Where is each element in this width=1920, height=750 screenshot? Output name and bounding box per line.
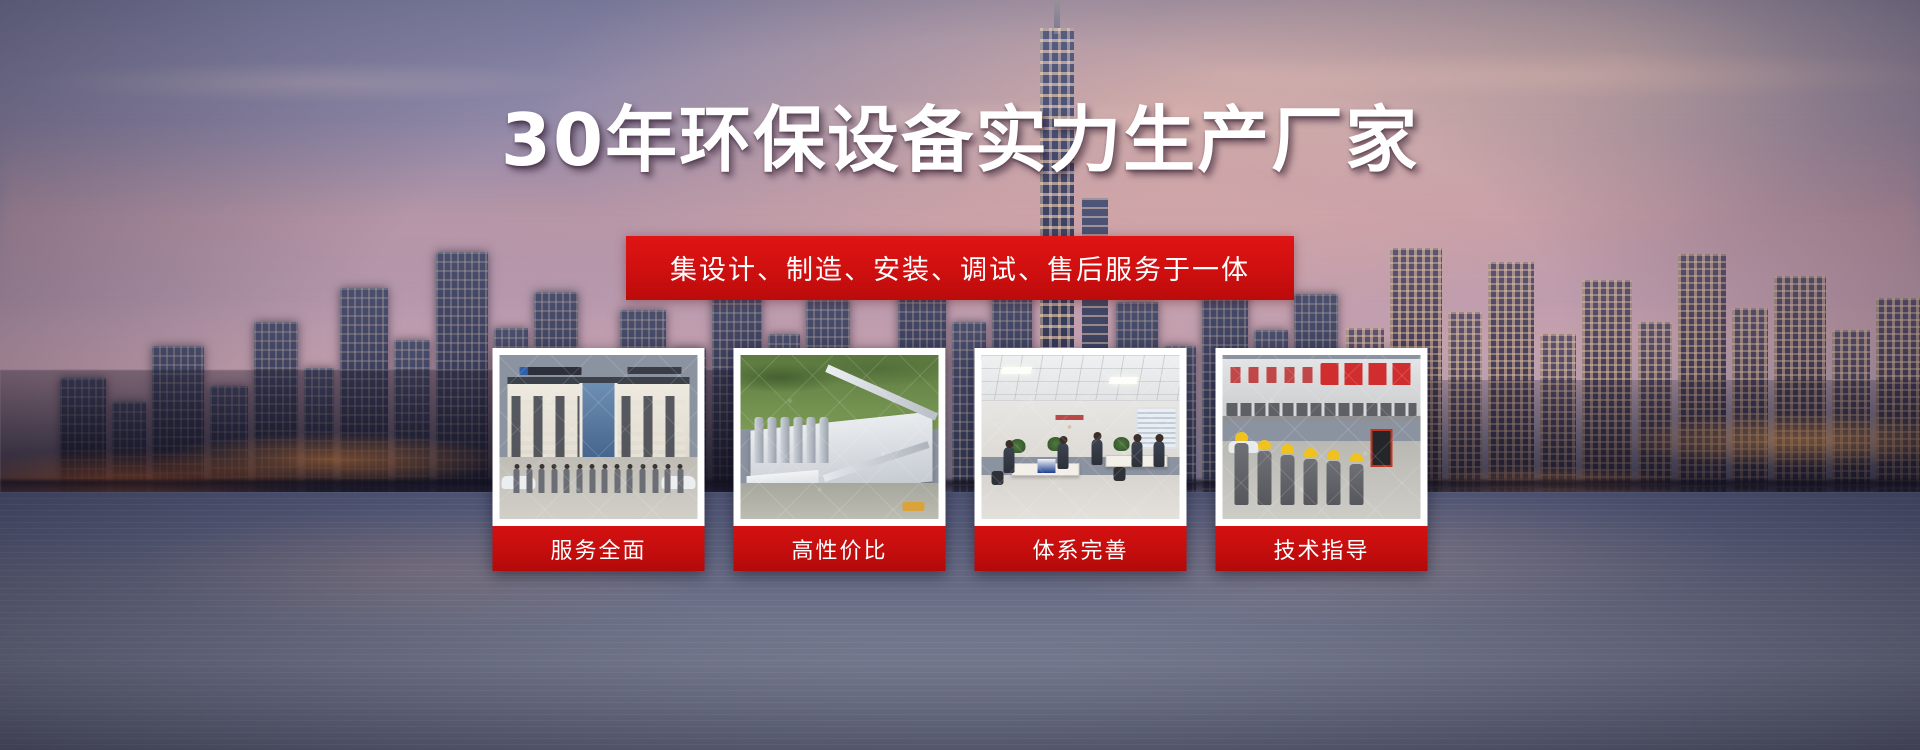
feature-card-caption: 高性价比	[734, 526, 946, 571]
silo-cluster	[755, 417, 829, 463]
office-chair	[1114, 467, 1126, 481]
ceiling-light	[1109, 377, 1139, 384]
potted-plant	[1114, 437, 1130, 451]
wall-decal	[1056, 415, 1084, 435]
desk-monitor	[1038, 459, 1056, 473]
office-chair	[992, 471, 1004, 485]
office-staff	[1004, 447, 1015, 473]
company-building-photo	[500, 355, 698, 519]
factory-headline-signage	[1321, 363, 1417, 385]
factory-door	[1371, 429, 1393, 467]
feature-card-4[interactable]: 技术指导	[1216, 348, 1428, 571]
feature-card-caption: 技术指导	[1216, 526, 1428, 571]
worker	[1235, 443, 1249, 505]
phone-signage	[628, 367, 682, 374]
office-interior-photo	[982, 355, 1180, 519]
page-title: 30年环保设备实力生产厂家	[0, 104, 1920, 176]
worker	[1350, 464, 1364, 505]
feature-card-row: 服务全面 高性价比	[493, 348, 1428, 571]
building-entrance	[580, 383, 618, 463]
feature-card-2[interactable]: 高性价比	[734, 348, 946, 571]
worker	[1258, 451, 1272, 505]
aerial-plant-photo	[741, 355, 939, 519]
factory-slogan-signage	[1231, 367, 1317, 383]
office-staff	[1092, 439, 1103, 465]
worker	[1281, 455, 1295, 505]
hero-banner: 30年环保设备实力生产厂家 集设计、制造、安装、调试、售后服务于一体	[0, 0, 1920, 750]
feature-card-3[interactable]: 体系完善	[975, 348, 1187, 571]
office-staff	[1058, 443, 1069, 469]
brand-signage	[520, 367, 582, 375]
subtitle-banner: 集设计、制造、安装、调试、售后服务于一体	[626, 236, 1294, 300]
office-staff	[1132, 441, 1143, 467]
feature-card-1[interactable]: 服务全面	[493, 348, 705, 571]
staff-lineup	[514, 465, 684, 493]
ceiling-light	[1001, 367, 1033, 374]
worker-lineup	[1235, 443, 1364, 505]
worker	[1327, 461, 1341, 505]
office-staff	[1154, 441, 1165, 467]
feature-card-caption: 体系完善	[975, 526, 1187, 571]
feature-card-caption: 服务全面	[493, 526, 705, 571]
plant-yard	[741, 483, 939, 519]
factory-window-strip	[1227, 403, 1417, 416]
office-floor	[982, 475, 1180, 519]
ceiling-grid	[982, 355, 1180, 401]
factory-workers-photo	[1223, 355, 1421, 519]
hero-content: 30年环保设备实力生产厂家 集设计、制造、安装、调试、售后服务于一体	[0, 0, 1920, 750]
worker	[1304, 459, 1318, 505]
